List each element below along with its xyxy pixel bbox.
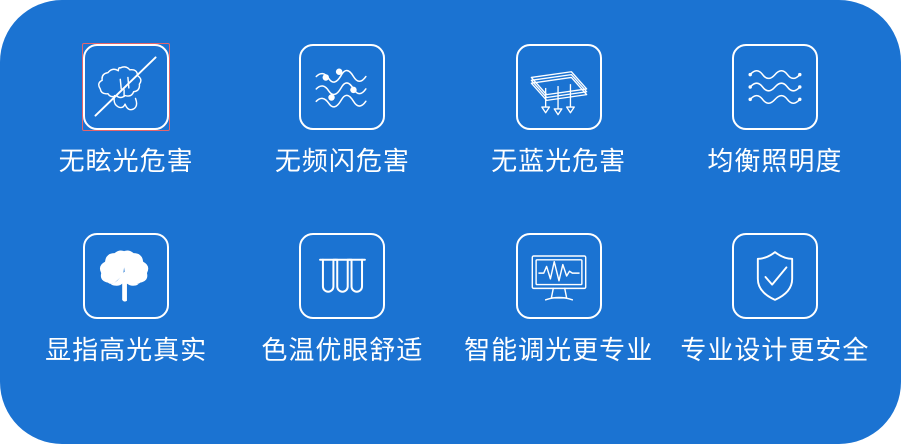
feature-label: 无频闪危害	[275, 148, 410, 174]
feature-cell-uniform-illuminance[interactable]: 均衡照明度	[667, 44, 883, 231]
feature-cell-no-glare[interactable]: 无眩光危害	[18, 44, 234, 231]
feature-cell-smart-dimming[interactable]: 智能调光更专业	[451, 231, 667, 418]
feature-label: 色温优眼舒适	[261, 337, 423, 363]
monitor-waveform-icon[interactable]	[516, 233, 602, 319]
feature-cell-color-temperature[interactable]: 色温优眼舒适	[234, 231, 450, 418]
feature-label: 均衡照明度	[707, 148, 842, 174]
feature-cell-high-cri[interactable]: 显指高光真实	[18, 231, 234, 418]
uniform-illuminance-icon[interactable]	[732, 44, 818, 130]
feature-grid: 无眩光危害 无频闪危害	[0, 0, 901, 444]
feature-panel: 无眩光危害 无频闪危害	[0, 0, 901, 444]
feature-label: 专业设计更安全	[680, 337, 869, 363]
shield-check-icon[interactable]	[732, 233, 818, 319]
feature-label: 无眩光危害	[59, 148, 194, 174]
feature-label: 显指高光真实	[45, 337, 207, 363]
feature-cell-safe-design[interactable]: 专业设计更安全	[667, 231, 883, 418]
feature-cell-no-flicker[interactable]: 无频闪危害	[234, 44, 450, 231]
no-glare-icon[interactable]	[83, 44, 169, 130]
feature-label: 无蓝光危害	[491, 148, 626, 174]
no-flicker-icon[interactable]	[299, 44, 385, 130]
feature-cell-no-blue-light[interactable]: 无蓝光危害	[451, 44, 667, 231]
test-tubes-icon[interactable]	[299, 233, 385, 319]
no-blue-light-icon[interactable]	[516, 44, 602, 130]
cotton-boll-icon[interactable]	[83, 233, 169, 319]
feature-label: 智能调光更专业	[464, 337, 653, 363]
